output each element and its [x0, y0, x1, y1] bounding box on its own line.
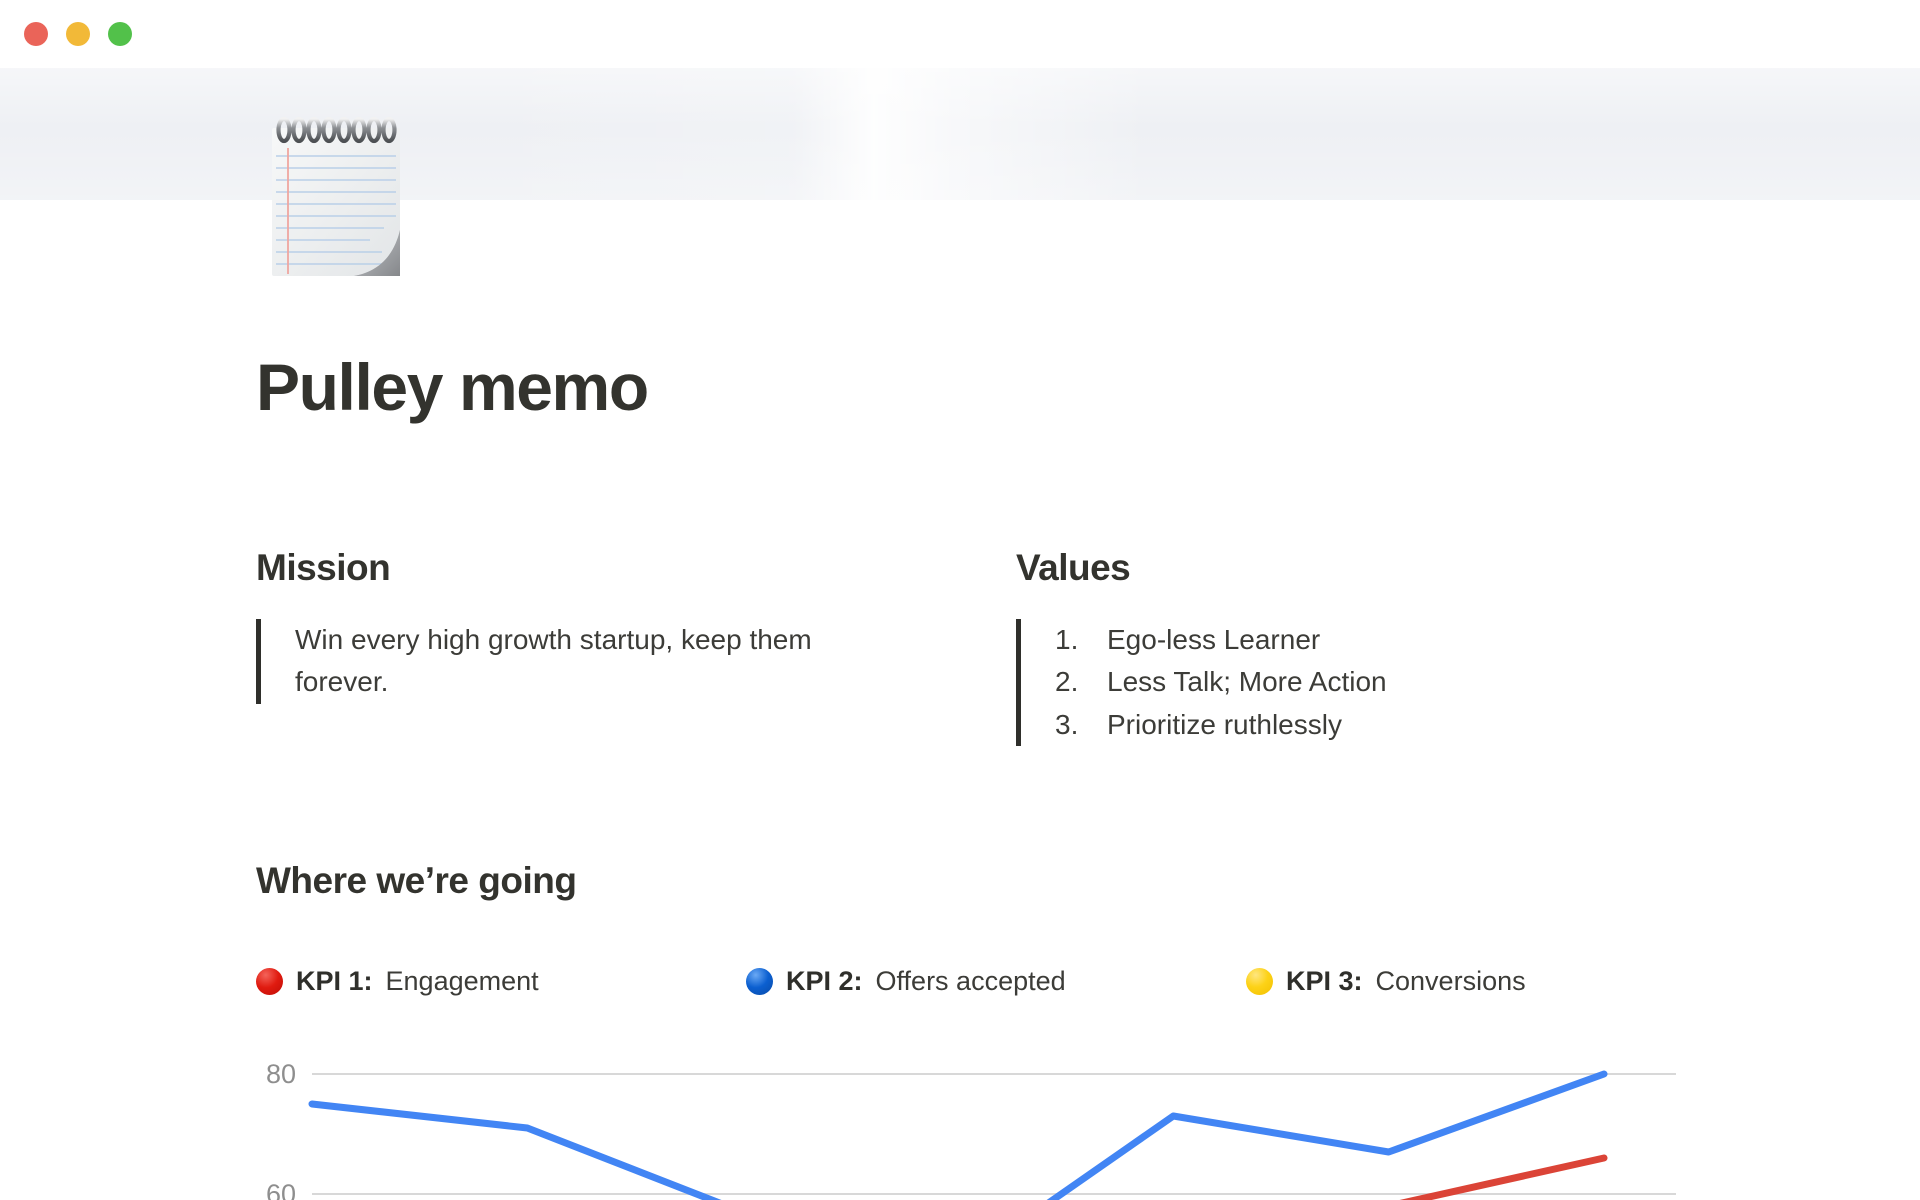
page-title: Pulley memo	[256, 352, 648, 423]
values-section: Values Ego-less Learner Less Talk; More …	[1016, 548, 1776, 746]
list-item: Less Talk; More Action	[1055, 661, 1776, 704]
values-quote-block: Ego-less Learner Less Talk; More Action …	[1016, 619, 1776, 747]
chart-line	[312, 1074, 1604, 1200]
blue-circle-icon	[746, 968, 773, 995]
yellow-circle-icon	[1246, 968, 1273, 995]
red-circle-icon	[256, 968, 283, 995]
mission-text: Win every high growth startup, keep them…	[295, 619, 865, 704]
mission-heading: Mission	[256, 548, 1016, 589]
kpi-legend-item-2: KPI 2: Offers accepted	[746, 966, 1246, 997]
kpi-legend-item-3: KPI 3: Conversions	[1246, 966, 1656, 997]
kpi-legend-item-1: KPI 1: Engagement	[256, 966, 746, 997]
close-window-button[interactable]	[24, 22, 48, 46]
maximize-window-button[interactable]	[108, 22, 132, 46]
chart-series-lines	[312, 1074, 1604, 1200]
chart-y-tick-label: 80	[266, 1059, 296, 1089]
two-column-section: Mission Win every high growth startup, k…	[256, 548, 1876, 746]
kpi-legend: KPI 1: Engagement KPI 2: Offers accepted…	[256, 966, 1656, 997]
values-list: Ego-less Learner Less Talk; More Action …	[1055, 619, 1776, 747]
kpi-3-label: KPI 3:	[1286, 966, 1363, 997]
window-title-bar	[0, 0, 1920, 68]
mission-quote-block: Win every high growth startup, keep them…	[256, 619, 1016, 704]
chart-y-tick-labels: 8060	[266, 1059, 296, 1200]
kpi-3-value: Conversions	[1376, 966, 1526, 997]
kpi-1-label: KPI 1:	[296, 966, 373, 997]
document-body: Pulley memo Mission Win every high growt…	[0, 0, 1920, 1200]
kpi-1-value: Engagement	[386, 966, 539, 997]
mission-section: Mission Win every high growth startup, k…	[256, 548, 1016, 746]
minimize-window-button[interactable]	[66, 22, 90, 46]
list-item: Ego-less Learner	[1055, 619, 1776, 662]
kpi-line-chart: 8060	[256, 1046, 1676, 1200]
kpi-2-value: Offers accepted	[876, 966, 1066, 997]
window-controls	[24, 22, 132, 46]
values-heading: Values	[1016, 548, 1776, 589]
chart-gridlines	[312, 1074, 1676, 1194]
list-item: Prioritize ruthlessly	[1055, 704, 1776, 747]
chart-y-tick-label: 60	[266, 1179, 296, 1200]
kpi-2-label: KPI 2:	[786, 966, 863, 997]
spiral-notepad-icon	[266, 112, 406, 280]
where-we-are-going-heading: Where we’re going	[256, 860, 576, 902]
